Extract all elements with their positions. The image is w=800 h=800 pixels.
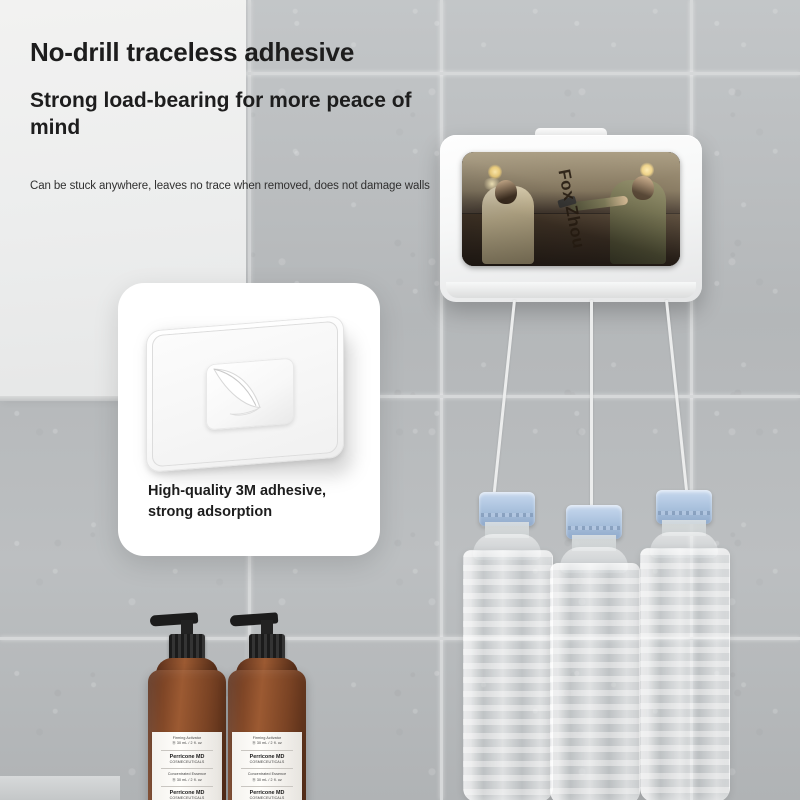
- hanging-string: [590, 300, 593, 514]
- screen-scene-image: Fox Zhou: [462, 152, 680, 266]
- pump-bottle-label: Firming Activator Ⓡ 30 mL / 2 fl. oz Per…: [232, 732, 302, 800]
- bottle-body: [550, 563, 640, 800]
- label-sub: COSMECEUTICALS: [235, 796, 299, 800]
- page-subtitle: Strong load-bearing for more peace of mi…: [30, 88, 430, 142]
- label-sub: COSMECEUTICALS: [155, 796, 219, 800]
- page-title: No-drill traceless adhesive: [30, 38, 450, 68]
- counter-edge: [0, 776, 120, 800]
- holder-bottom-lip: [446, 282, 696, 298]
- label-line-4: Ⓡ 30 mL / 2 fl. oz: [155, 778, 219, 783]
- label-divider: [241, 750, 293, 751]
- label-divider: [241, 768, 293, 769]
- bottle-body: [640, 548, 730, 800]
- label-divider: [241, 786, 293, 787]
- label-line-4: Ⓡ 30 mL / 2 fl. oz: [235, 778, 299, 783]
- phone-holder[interactable]: Fox Zhou: [440, 135, 702, 302]
- headline-block: No-drill traceless adhesive Strong load-…: [30, 38, 450, 142]
- label-line-2: Ⓡ 30 mL / 2 fl. oz: [235, 741, 299, 746]
- label-line-2: Ⓡ 30 mL / 2 fl. oz: [155, 741, 219, 746]
- label-sub: COSMECEUTICALS: [235, 760, 299, 765]
- feature-callout-card: High-quality 3M adhesive, strong adsorpt…: [118, 283, 380, 556]
- pump-bottle-label: Firming Activator Ⓡ 30 mL / 2 fl. oz Per…: [152, 732, 222, 800]
- label-divider: [161, 786, 213, 787]
- bottle-cap: [566, 505, 622, 539]
- label-divider: [161, 750, 213, 751]
- bottle-cap: [656, 490, 712, 524]
- phone-screen[interactable]: Fox Zhou: [462, 152, 680, 266]
- product-feature-image: No-drill traceless adhesive Strong load-…: [0, 0, 800, 800]
- label-divider: [161, 768, 213, 769]
- peeling-film-corner-icon: [210, 361, 272, 426]
- label-sub: COSMECEUTICALS: [155, 760, 219, 765]
- bottle-body: [463, 550, 553, 800]
- body-description: Can be stuck anywhere, leaves no trace w…: [30, 180, 460, 192]
- adhesive-pad-illustration: [146, 323, 351, 473]
- bottle-cap: [479, 492, 535, 526]
- callout-caption: High-quality 3M adhesive, strong adsorpt…: [148, 481, 348, 522]
